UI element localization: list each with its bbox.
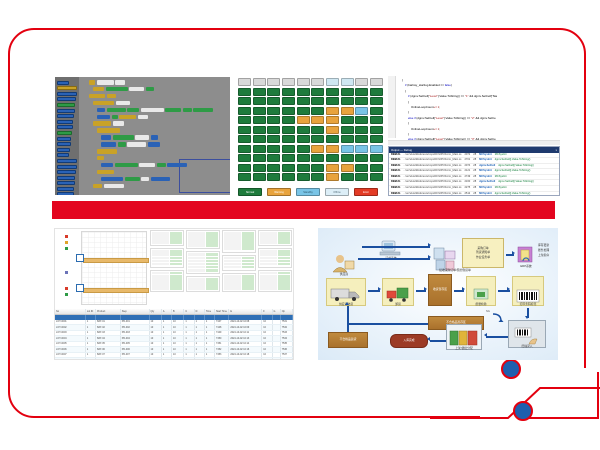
canvas-block[interactable]: [157, 163, 166, 168]
status-cell[interactable]: [326, 154, 339, 162]
canvas-block-row[interactable]: [93, 184, 124, 189]
canvas-block[interactable]: [165, 108, 181, 113]
canvas-block-row[interactable]: [93, 87, 154, 92]
table-cell: Product: [96, 309, 121, 314]
palette-block[interactable]: [57, 181, 75, 185]
gantt-form-field: [224, 287, 254, 290]
canvas-block[interactable]: [148, 142, 160, 147]
status-cell[interactable]: [326, 164, 339, 172]
status-cell[interactable]: [311, 173, 324, 181]
status-cell[interactable]: [297, 126, 310, 134]
code-editor-screenshot[interactable]: {if (bartray_startlog.Enabled == false){…: [388, 76, 560, 196]
table-cell: 1: [195, 325, 205, 330]
status-cell[interactable]: [282, 78, 295, 86]
status-cell[interactable]: [311, 135, 324, 143]
blocks-canvas[interactable]: [83, 77, 230, 195]
status-cell[interactable]: [253, 116, 266, 124]
status-cell[interactable]: [238, 88, 251, 96]
status-cell[interactable]: [326, 126, 339, 134]
section-divider-banner: [52, 201, 555, 219]
canvas-block[interactable]: [112, 115, 118, 120]
palette-block[interactable]: [57, 142, 71, 146]
canvas-block[interactable]: [93, 184, 102, 189]
table-cell: 1: [184, 342, 194, 347]
status-cell[interactable]: [370, 145, 383, 153]
status-cell[interactable]: [238, 135, 251, 143]
status-cell[interactable]: [355, 97, 368, 105]
status-cell[interactable]: [253, 145, 266, 153]
canvas-block-row[interactable]: [97, 170, 114, 175]
output-log-panel[interactable]: Output — Debug x DEBUG...\src\Auto\Refer…: [388, 146, 560, 196]
table-cell: 10: [150, 353, 162, 358]
palette-block[interactable]: [57, 148, 70, 152]
flow-arrowhead-1: [428, 243, 431, 247]
table-cell: 1: [86, 325, 96, 330]
canvas-block-row[interactable]: [97, 156, 104, 161]
status-cell[interactable]: [341, 78, 354, 86]
status-cell[interactable]: [282, 154, 295, 162]
table-cell: 7532: [281, 325, 293, 330]
status-cell[interactable]: [326, 107, 339, 115]
status-cell[interactable]: [355, 173, 368, 181]
palette-block[interactable]: [57, 86, 77, 90]
flow-label-erp: ERP系统: [520, 265, 531, 268]
table-cell: BAT-02: [96, 325, 121, 330]
status-cell[interactable]: [370, 164, 383, 172]
gantt-form-card: [222, 230, 256, 253]
scheduler-screenshot[interactable]: NoLot IDProductStepQtyABCDTimeStart Time…: [54, 228, 294, 360]
status-cell[interactable]: [311, 116, 324, 124]
palette-block[interactable]: [57, 176, 75, 180]
status-cell[interactable]: [326, 88, 339, 96]
status-cell[interactable]: [267, 135, 280, 143]
gantt-status-led: [65, 247, 68, 250]
canvas-block[interactable]: [127, 108, 139, 113]
gantt-area[interactable]: [55, 229, 293, 307]
table-cell: 10: [172, 336, 184, 341]
status-cell[interactable]: [297, 173, 310, 181]
gantt-rail-icons: [57, 231, 79, 307]
status-cell[interactable]: [282, 107, 295, 115]
status-cell[interactable]: [253, 107, 266, 115]
palette-block[interactable]: [57, 97, 76, 101]
status-cell[interactable]: [297, 97, 310, 105]
status-cell[interactable]: [326, 78, 339, 86]
table-row[interactable]: LOT-00081BAT-08PD-0081011011174542024-10…: [55, 358, 293, 359]
status-cell[interactable]: [311, 154, 324, 162]
gantt-form-field: [188, 244, 218, 247]
canvas-block[interactable]: [139, 163, 155, 168]
status-cell[interactable]: [297, 107, 310, 115]
table-cell: Qty: [150, 309, 162, 314]
table-cell: 2024-10-02 10:20: [229, 358, 262, 359]
palette-block[interactable]: [57, 114, 74, 118]
status-grid-cells[interactable]: [238, 78, 383, 174]
status-cell[interactable]: [341, 116, 354, 124]
canvas-block[interactable]: [125, 177, 140, 182]
table-cell: 7531: [281, 320, 293, 325]
canvas-block-row[interactable]: [93, 101, 130, 106]
status-cell[interactable]: [267, 126, 280, 134]
log-row[interactable]: DEBUG...\src\Auto\Reference\mpLD1\SIPC\F…: [389, 192, 559, 196]
status-cell[interactable]: [238, 145, 251, 153]
table-cell: 7451: [215, 342, 229, 347]
table-cell: 1: [195, 342, 205, 347]
canvas-block[interactable]: [89, 80, 95, 85]
status-cell[interactable]: [282, 164, 295, 172]
legend-swatch-red: Error: [354, 188, 378, 196]
canvas-block[interactable]: [97, 80, 114, 85]
table-cell: 1: [205, 320, 215, 325]
status-cell[interactable]: [355, 164, 368, 172]
status-cell[interactable]: [282, 173, 295, 181]
status-cell[interactable]: [341, 164, 354, 172]
table-cell: 7534: [281, 336, 293, 341]
palette-block[interactable]: [57, 120, 73, 124]
palette-block[interactable]: [57, 81, 69, 85]
canvas-block[interactable]: [107, 94, 116, 99]
table-cell: 10: [150, 320, 162, 325]
palette-block[interactable]: [57, 92, 77, 96]
table-cell: Op: [281, 309, 293, 314]
status-cell[interactable]: [341, 145, 354, 153]
gantt-status-led: [65, 235, 68, 238]
table-cell: 7449: [215, 331, 229, 336]
flow-label-supplier: 供应商: [340, 273, 348, 276]
status-cell[interactable]: [282, 116, 295, 124]
canvas-block[interactable]: [97, 128, 120, 133]
canvas-block-row[interactable]: [89, 94, 116, 99]
canvas-block-row[interactable]: [101, 177, 170, 182]
legend-swatch-pale: Offline: [325, 188, 349, 196]
gantt-form-column: [150, 230, 184, 306]
canvas-block[interactable]: [97, 115, 110, 120]
canvas-block[interactable]: [113, 121, 124, 126]
palette-block[interactable]: [57, 109, 75, 113]
flow-label-unload: 卸货: [395, 303, 401, 306]
table-cell: 10: [150, 331, 162, 336]
canvas-block[interactable]: [97, 170, 114, 175]
status-cell[interactable]: [282, 126, 295, 134]
status-cell[interactable]: [311, 97, 324, 105]
status-cell[interactable]: [326, 173, 339, 181]
blocks-editor-screenshot[interactable]: [55, 77, 230, 195]
flow-node-putaway: 上架/储位分配: [446, 324, 482, 350]
table-cell: 1: [184, 358, 194, 359]
status-cell[interactable]: [370, 154, 383, 162]
gantt-form-field: [188, 287, 218, 290]
table-cell: 7533: [281, 331, 293, 336]
code-horizontal-scrollbar[interactable]: [388, 140, 560, 145]
status-cell[interactable]: [238, 97, 251, 105]
output-log-title: Output — Debug: [391, 148, 412, 152]
canvas-block[interactable]: [97, 156, 104, 161]
canvas-block[interactable]: [146, 87, 154, 92]
flow-loopback-arrow: [490, 312, 504, 326]
canvas-block-row[interactable]: [93, 121, 124, 126]
status-cell[interactable]: [267, 164, 280, 172]
status-cell[interactable]: [355, 107, 368, 115]
table-cell: 1: [184, 331, 194, 336]
table-cell: PD-007: [121, 353, 150, 358]
palette-block[interactable]: [57, 153, 69, 157]
status-cell[interactable]: [297, 88, 310, 96]
status-cell[interactable]: [297, 145, 310, 153]
canvas-block[interactable]: [141, 177, 149, 182]
canvas-block[interactable]: [151, 135, 158, 140]
gantt-node[interactable]: [76, 284, 84, 292]
status-cell[interactable]: [253, 126, 266, 134]
table-cell: 1: [205, 358, 215, 359]
canvas-block-row[interactable]: [101, 163, 187, 168]
palette-block[interactable]: [57, 159, 77, 163]
status-cell[interactable]: [311, 126, 324, 134]
status-cell[interactable]: [253, 97, 266, 105]
status-cell[interactable]: [297, 154, 310, 162]
status-cell[interactable]: [297, 116, 310, 124]
palette-block[interactable]: [57, 192, 74, 195]
gantt-form-field: [260, 241, 290, 244]
status-cell[interactable]: [238, 164, 251, 172]
canvas-block-row[interactable]: [101, 142, 160, 147]
status-cell[interactable]: [311, 88, 324, 96]
status-cell[interactable]: [238, 126, 251, 134]
canvas-block-row[interactable]: [89, 80, 125, 85]
canvas-block[interactable]: [115, 163, 138, 168]
status-cell[interactable]: [370, 107, 383, 115]
table-cell: 7538: [281, 358, 293, 359]
status-cell[interactable]: [238, 78, 251, 86]
palette-block[interactable]: [57, 131, 72, 135]
status-cell[interactable]: [370, 97, 383, 105]
gantt-form-field: [152, 263, 182, 266]
status-cell[interactable]: [253, 78, 266, 86]
status-cell[interactable]: [326, 145, 339, 153]
status-cell[interactable]: [282, 145, 295, 153]
table-cell: 1: [86, 342, 96, 347]
table-cell: 7447: [215, 320, 229, 325]
status-cell[interactable]: [326, 116, 339, 124]
status-cell[interactable]: [253, 173, 266, 181]
canvas-block[interactable]: [193, 108, 213, 113]
canvas-block[interactable]: [116, 101, 130, 106]
logistics-flowchart-screenshot[interactable]: 供应商 订单系统 采购订单 到货通知单 作业任务单 接收采购订单/预约到货单 E…: [318, 228, 558, 360]
canvas-block[interactable]: [93, 87, 104, 92]
status-cell[interactable]: [341, 173, 354, 181]
canvas-block[interactable]: [138, 115, 148, 120]
status-cell[interactable]: [282, 97, 295, 105]
status-cell[interactable]: [267, 116, 280, 124]
legend-swatch-orange: Warning: [267, 188, 291, 196]
status-cell[interactable]: [253, 164, 266, 172]
canvas-block[interactable]: [141, 108, 164, 113]
status-cell[interactable]: [355, 116, 368, 124]
canvas-block[interactable]: [113, 135, 134, 140]
gantt-bar[interactable]: [83, 258, 149, 263]
table-cell: 10: [262, 353, 272, 358]
status-cell[interactable]: [238, 116, 251, 124]
status-cell[interactable]: [341, 135, 354, 143]
status-cell[interactable]: [341, 88, 354, 96]
table-cell: 10: [172, 331, 184, 336]
flow-node-supplier: 供应商: [328, 246, 360, 276]
status-cell[interactable]: [355, 145, 368, 153]
gantt-node[interactable]: [76, 254, 84, 262]
status-cell[interactable]: [355, 78, 368, 86]
status-cell[interactable]: [370, 126, 383, 134]
canvas-block-row[interactable]: [97, 128, 120, 133]
status-cell[interactable]: [297, 164, 310, 172]
gantt-form-card: [258, 230, 292, 246]
status-cell[interactable]: [370, 88, 383, 96]
status-cell[interactable]: [370, 135, 383, 143]
status-cell[interactable]: [355, 154, 368, 162]
canvas-block[interactable]: [104, 184, 124, 189]
flow-arrow-reject-up: [347, 306, 349, 332]
canvas-block-row[interactable]: [97, 149, 117, 154]
table-cell: 1: [184, 336, 194, 341]
table-cell: 10: [172, 320, 184, 325]
table-cell: 1: [162, 347, 172, 352]
table-cell: 10: [172, 325, 184, 330]
close-icon[interactable]: x: [556, 148, 557, 152]
status-cell[interactable]: [282, 88, 295, 96]
flow-label-label-print: 打印条码标签: [520, 303, 537, 306]
status-cell[interactable]: [355, 88, 368, 96]
data-table[interactable]: NoLot IDProductStepQtyABCDTimeStart Time…: [55, 309, 293, 359]
status-cell[interactable]: [297, 78, 310, 86]
table-cell: 10: [172, 347, 184, 352]
status-cell[interactable]: [355, 135, 368, 143]
flow-node-inspect: 质量检验: [466, 276, 496, 306]
table-cell: LOT-0002: [55, 325, 86, 330]
gantt-form-card: [258, 270, 292, 293]
table-cell: 10: [262, 358, 272, 359]
status-cell[interactable]: [267, 154, 280, 162]
flow-label-scan-in: 扫描录入: [521, 345, 532, 348]
status-cell[interactable]: [355, 126, 368, 134]
table-cell: 10: [172, 342, 184, 347]
table-cell: LOT-0004: [55, 336, 86, 341]
table-cell: BAT-07: [96, 353, 121, 358]
canvas-block[interactable]: [118, 142, 126, 147]
canvas-block[interactable]: [135, 135, 149, 140]
canvas-block[interactable]: [89, 94, 105, 99]
canvas-block[interactable]: [101, 163, 113, 168]
canvas-block[interactable]: [93, 121, 111, 126]
gantt-status-led: [65, 271, 68, 274]
canvas-block[interactable]: [106, 87, 128, 92]
palette-block[interactable]: [57, 165, 77, 169]
status-cell[interactable]: [253, 135, 266, 143]
palette-block[interactable]: [57, 187, 74, 191]
canvas-block-row[interactable]: [97, 108, 213, 113]
status-cell[interactable]: [267, 88, 280, 96]
table-cell: 10: [172, 353, 184, 358]
canvas-block[interactable]: [119, 115, 136, 120]
flow-label-putaway: 上架/储位分配: [455, 347, 473, 350]
code-text-area[interactable]: {if (bartray_startlog.Enabled == false){…: [396, 78, 560, 140]
status-cell[interactable]: [341, 97, 354, 105]
canvas-block-row[interactable]: [101, 135, 158, 140]
flow-node-reject-return: 不合格品退货: [328, 332, 368, 348]
canvas-block[interactable]: [93, 101, 114, 106]
status-grid-legend: NormalWarningStandbyOfflineError: [238, 188, 378, 196]
status-grid-screenshot[interactable]: NormalWarningStandbyOfflineError: [238, 78, 383, 198]
status-cell[interactable]: [238, 173, 251, 181]
table-cell: 7536: [281, 347, 293, 352]
status-cell[interactable]: [311, 164, 324, 172]
canvas-block[interactable]: [107, 108, 126, 113]
canvas-block[interactable]: [129, 87, 144, 92]
canvas-block[interactable]: [127, 142, 146, 147]
table-cell: BAT-01: [96, 320, 121, 325]
status-cell[interactable]: [253, 88, 266, 96]
status-cell[interactable]: [267, 78, 280, 86]
status-cell[interactable]: [370, 173, 383, 181]
gantt-bar[interactable]: [83, 288, 149, 293]
status-cell[interactable]: [311, 78, 324, 86]
status-cell[interactable]: [238, 154, 251, 162]
status-cell[interactable]: [267, 107, 280, 115]
canvas-block[interactable]: [167, 163, 187, 168]
canvas-block[interactable]: [115, 80, 125, 85]
canvas-block[interactable]: [101, 177, 123, 182]
status-cell[interactable]: [297, 135, 310, 143]
flow-arrowhead-2: [428, 255, 431, 259]
gantt-form-card: [150, 248, 184, 267]
status-cell[interactable]: [267, 97, 280, 105]
table-cell: 10: [262, 347, 272, 352]
status-cell[interactable]: [311, 107, 324, 115]
canvas-block-row[interactable]: [97, 115, 148, 120]
status-cell[interactable]: [341, 107, 354, 115]
status-cell[interactable]: [341, 154, 354, 162]
status-cell[interactable]: [282, 135, 295, 143]
palette-block[interactable]: [57, 137, 71, 141]
canvas-block[interactable]: [183, 108, 192, 113]
table-cell: 2024-10-02 10:11: [229, 331, 262, 336]
canvas-block[interactable]: [97, 108, 105, 113]
canvas-block[interactable]: [101, 142, 116, 147]
blocks-palette[interactable]: [55, 77, 79, 195]
table-cell: No: [55, 309, 86, 314]
palette-block[interactable]: [57, 103, 75, 107]
status-cell[interactable]: [326, 135, 339, 143]
palette-block[interactable]: [57, 170, 76, 174]
status-cell[interactable]: [267, 145, 280, 153]
table-cell: 10: [150, 325, 162, 330]
table-cell: 1: [205, 347, 215, 352]
table-cell: C: [184, 309, 194, 314]
gantt-form-column: [258, 230, 292, 306]
canvas-block[interactable]: [151, 177, 170, 182]
status-cell[interactable]: [326, 97, 339, 105]
gantt-timeline-grid[interactable]: [81, 231, 147, 305]
status-cell[interactable]: [238, 107, 251, 115]
canvas-block[interactable]: [97, 149, 117, 154]
status-cell[interactable]: [253, 154, 266, 162]
status-cell[interactable]: [370, 78, 383, 86]
status-cell[interactable]: [370, 116, 383, 124]
status-cell[interactable]: [267, 173, 280, 181]
table-cell: 7535: [281, 342, 293, 347]
status-cell[interactable]: [311, 145, 324, 153]
status-cell[interactable]: [341, 126, 354, 134]
palette-block[interactable]: [57, 125, 73, 129]
table-cell: 1: [86, 358, 96, 359]
canvas-block[interactable]: [101, 135, 111, 140]
